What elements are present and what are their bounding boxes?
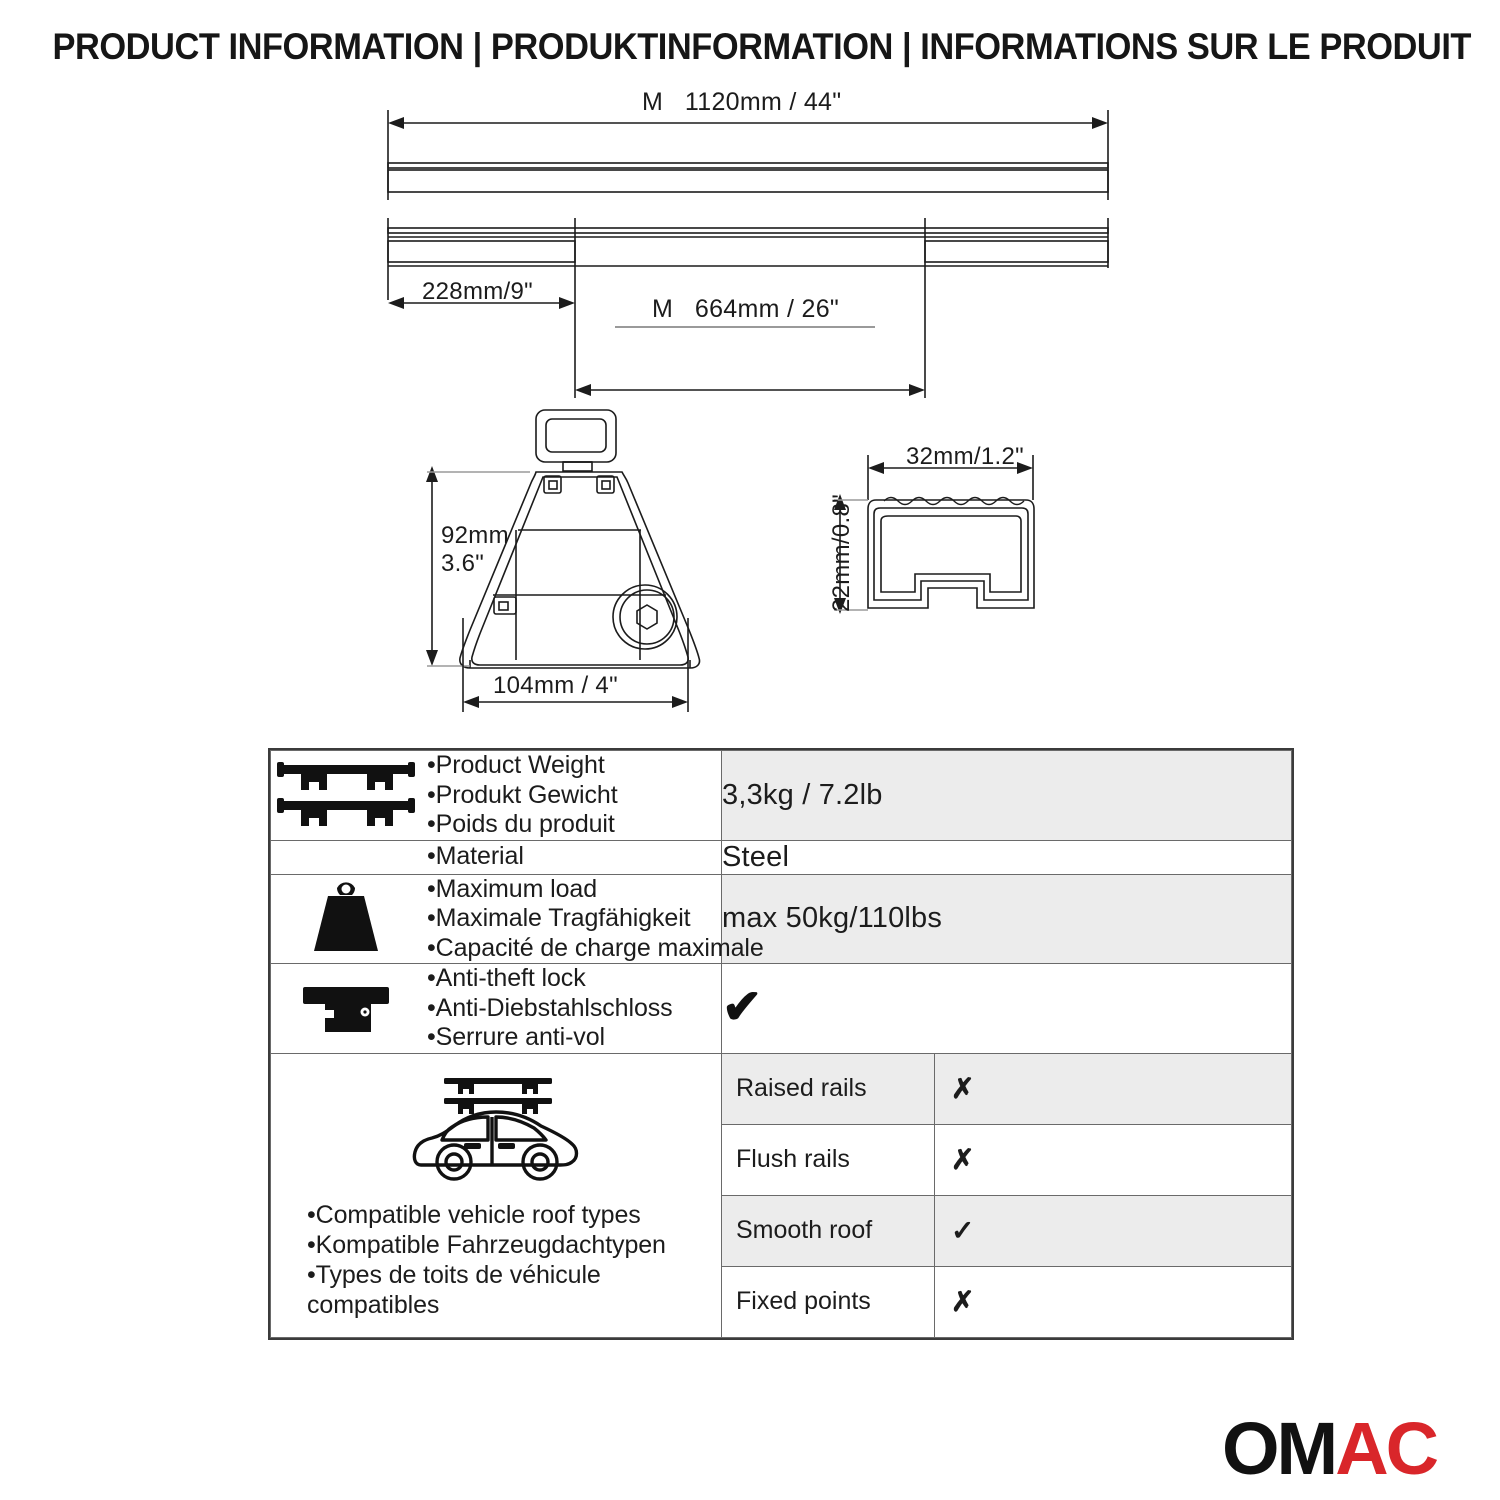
weight-label-cell: •Product Weight •Produkt Gewicht •Poids … [271,751,722,841]
roof-types-label-lines: •Compatible vehicle roof types •Kompatib… [271,1200,721,1320]
material-label-cell: •Material [271,840,722,874]
logo-text-red: AC [1335,1407,1436,1490]
label-line: •Maximale Tragfähigkeit [427,904,764,934]
check-icon: ✔ [722,981,762,1034]
roof-type-row: Raised rails ✗ [722,1054,1291,1125]
crossbars-icon [271,759,421,831]
roof-type-name: Smooth roof [722,1195,935,1266]
label-line: •Produkt Gewicht [427,781,618,811]
label-line: •Types de toits de véhicule [307,1260,721,1290]
label-line: •Serrure anti-vol [427,1023,673,1053]
roof-types-matrix: Raised rails ✗ Flush rails ✗ Smooth roof… [722,1054,1291,1337]
label-line: •Capacité de charge maximale [427,934,764,964]
label-line: •Kompatible Fahrzeugdachtypen [307,1230,721,1260]
lock-icon [271,977,421,1039]
roof-type-name: Flush rails [722,1124,935,1195]
table-row: •Anti-theft lock •Anti-Diebstahlschloss … [271,964,1292,1054]
roof-type-mark: ✗ [935,1054,1292,1125]
label-line: •Maximum load [427,875,764,905]
antitheft-label-lines: •Anti-theft lock •Anti-Diebstahlschloss … [427,964,673,1053]
roof-type-row: Fixed points ✗ [722,1266,1291,1337]
bar-length-value: 1120mm / 44" [685,88,842,116]
label-line: •Anti-Diebstahlschloss [427,994,673,1024]
omac-logo: OMAC [1222,1412,1436,1486]
label-line: •Poids du produit [427,810,618,840]
material-label-lines: •Material [427,842,524,872]
label-line: compatibles [307,1290,721,1320]
label-line: •Product Weight [427,751,618,781]
end-offset-dimension: 228mm/9" [422,278,533,306]
table-row: •Maximum load •Maximale Tragfähigkeit •C… [271,874,1292,964]
roof-type-mark: ✓ [935,1195,1292,1266]
specification-table: •Product Weight •Produkt Gewicht •Poids … [268,748,1294,1340]
weight-icon [271,880,421,958]
logo-text-dark: OM [1222,1407,1335,1490]
label-line: •Compatible vehicle roof types [307,1200,721,1230]
weight-label-lines: •Product Weight •Produkt Gewicht •Poids … [427,751,618,840]
roof-types-label-cell: •Compatible vehicle roof types •Kompatib… [271,1053,722,1337]
foot-width-dimension: 104mm / 4" [493,672,618,700]
roof-type-row: Smooth roof ✓ [722,1195,1291,1266]
table-row: •Material Steel [271,840,1292,874]
foot-height-inch: 3.6" [441,550,484,578]
bar-length-prefix: M [642,88,663,116]
profile-width-dimension: 32mm/1.2" [906,443,1024,471]
antitheft-label-cell: •Anti-theft lock •Anti-Diebstahlschloss … [271,964,722,1054]
roof-type-row: Flush rails ✗ [722,1124,1291,1195]
car-with-rack-icon [271,1070,721,1190]
label-line: •Anti-theft lock [427,964,673,994]
spread-prefix: M [652,295,673,323]
label-line: •Material [427,842,524,872]
maxload-label-cell: •Maximum load •Maximale Tragfähigkeit •C… [271,874,722,964]
maxload-label-lines: •Maximum load •Maximale Tragfähigkeit •C… [427,875,764,964]
roof-type-mark: ✗ [935,1266,1292,1337]
roof-types-matrix-cell: Raised rails ✗ Flush rails ✗ Smooth roof… [722,1053,1292,1337]
material-value: Steel [722,840,1292,874]
antitheft-value-cell: ✔ [722,964,1292,1054]
roof-type-mark: ✗ [935,1124,1292,1195]
table-row: •Product Weight •Produkt Gewicht •Poids … [271,751,1292,841]
profile-height-dimension: 22mm/0.8" [828,494,856,612]
table-row-roof-types: •Compatible vehicle roof types •Kompatib… [271,1053,1292,1337]
foot-height-mm: 92mm [441,522,509,550]
roof-type-name: Raised rails [722,1054,935,1125]
roof-type-name: Fixed points [722,1266,935,1337]
maxload-value: max 50kg/110lbs [722,874,1292,964]
spread-value: 664mm / 26" [695,295,839,323]
weight-value: 3,3kg / 7.2lb [722,751,1292,841]
technical-drawings: M 1120mm / 44" 228mm/9" M 664mm / 26" 92… [0,0,1500,745]
